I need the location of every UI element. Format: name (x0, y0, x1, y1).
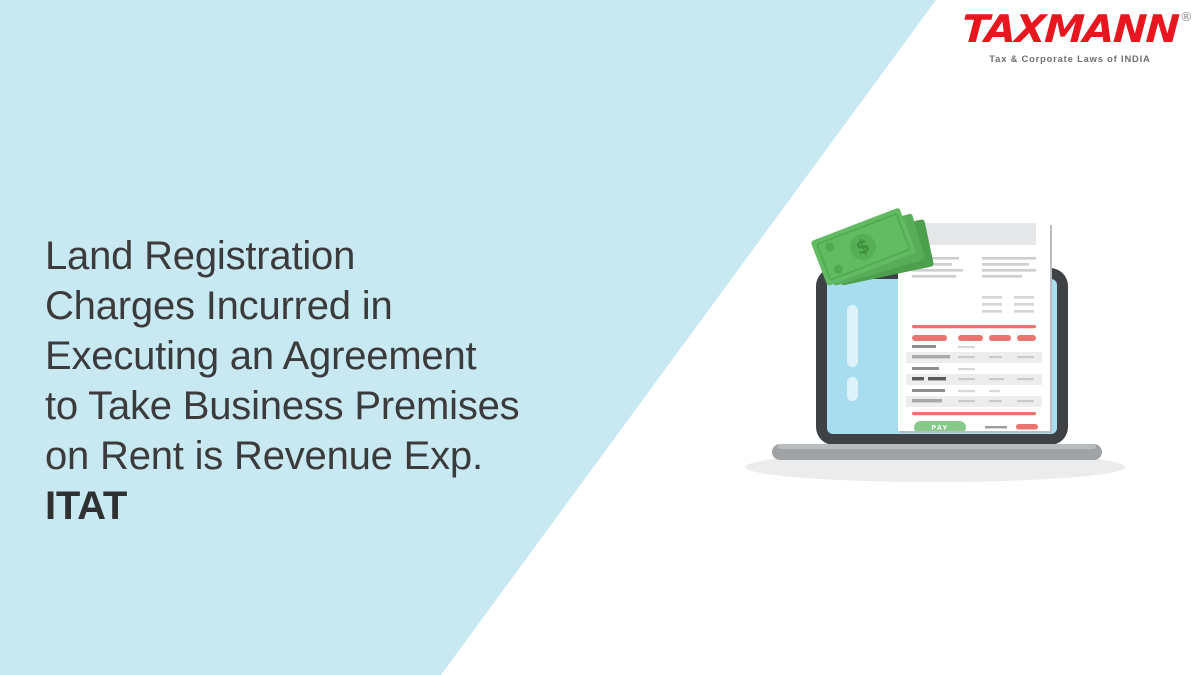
illustration-laptop-invoice-cash: PAY (730, 195, 1150, 495)
logo-tagline: Tax & Corporate Laws of INDIA (968, 55, 1172, 64)
screen-gloss-left (847, 305, 858, 401)
table-row (906, 374, 1042, 385)
invoice-total-line (985, 426, 1007, 428)
taxmann-logo[interactable]: TAXMANN ® Tax & Corporate Laws of INDIA (968, 10, 1172, 64)
table-row (906, 396, 1042, 407)
registered-trademark-icon: ® (1180, 11, 1193, 23)
headline-line-1: Land Registration (45, 231, 655, 281)
headline-line-4: to Take Business Premises (45, 381, 655, 431)
invoice-header-band (912, 223, 1036, 245)
headline-line-5: on Rent is Revenue Exp. (45, 431, 655, 481)
table-row (906, 352, 1042, 363)
logo-wordmark: TAXMANN ® (961, 10, 1179, 48)
invoice-divider-top (912, 325, 1036, 328)
invoice-divider-bottom (912, 412, 1036, 415)
logo-wordmark-text: TAXMANN (961, 7, 1180, 51)
headline-court-label: ITAT (45, 481, 655, 531)
invoice-total-amount (1016, 424, 1038, 430)
poster-canvas: TAXMANN ® Tax & Corporate Laws of INDIA … (0, 0, 1200, 675)
headline-line-2: Charges Incurred in (45, 281, 655, 331)
headline-text: Land Registration Charges Incurred in Ex… (45, 231, 655, 531)
laptop-base-highlight (778, 444, 1096, 449)
invoice-table-rows (906, 345, 1042, 407)
headline-line-3: Executing an Agreement (45, 331, 655, 381)
pay-button-label: PAY (931, 425, 948, 432)
